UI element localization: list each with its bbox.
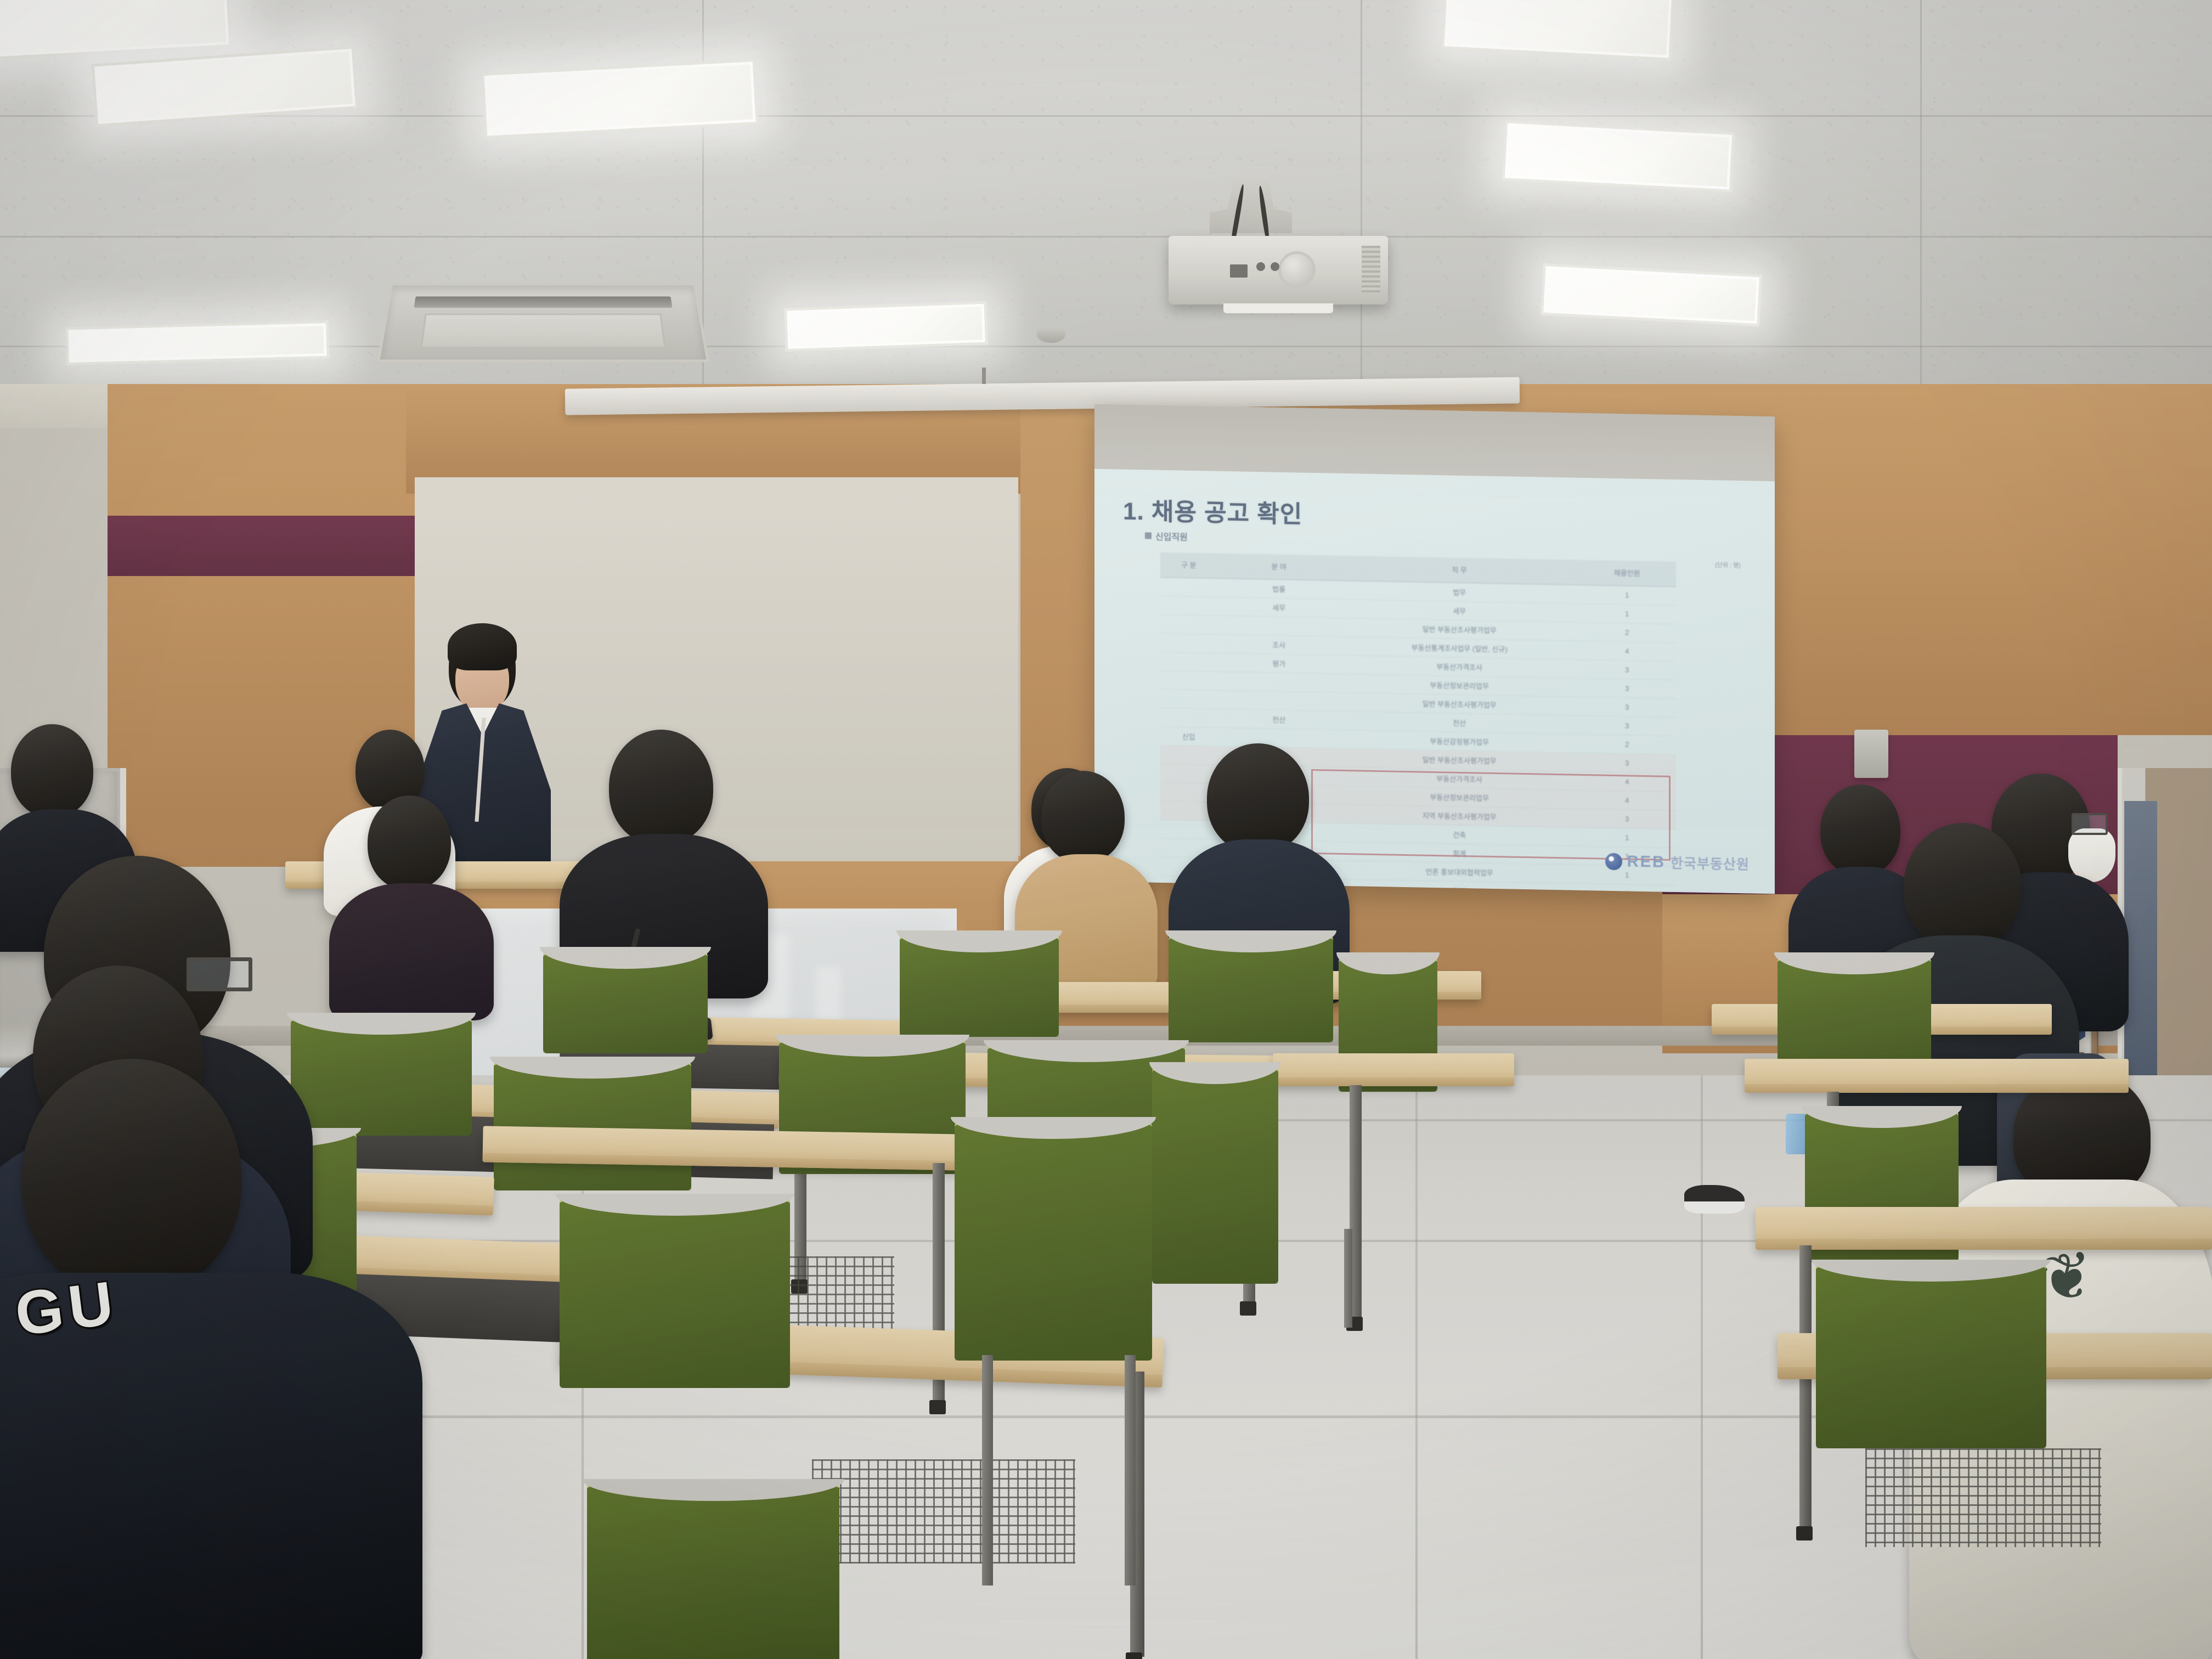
head	[11, 724, 93, 817]
ceiling-light-panel	[1502, 120, 1735, 193]
table-cell: 3	[1578, 809, 1676, 829]
desk-leg-foot	[1240, 1301, 1256, 1316]
table-cell: 조사	[1217, 634, 1341, 655]
head	[1207, 743, 1309, 853]
door-window-pane	[2124, 801, 2157, 1108]
projector-vent	[1362, 246, 1380, 293]
table-column-header-2: 직 무	[1341, 556, 1578, 585]
table-cell	[1160, 708, 1217, 727]
chair[interactable]	[1169, 933, 1333, 1042]
head	[1904, 823, 2022, 949]
desk-wire-basket	[1865, 1448, 2101, 1547]
chair-back	[494, 1059, 691, 1190]
ceiling-ac-unit	[377, 283, 710, 362]
wall-speaker	[1854, 730, 1888, 778]
table-cell	[1160, 577, 1217, 597]
projector-lens	[1278, 251, 1316, 289]
table-cell: 3	[1578, 753, 1676, 773]
student-left-varsity-jacket: GU	[0, 1059, 406, 1659]
table-cell	[1160, 670, 1217, 690]
torso	[329, 883, 494, 1020]
student-center-tan-vest	[1009, 771, 1163, 957]
table-cell: 3	[1578, 659, 1676, 680]
floor-grout-line	[1415, 1075, 1418, 1659]
table-cell: 법률	[1217, 578, 1341, 599]
table-cell	[1160, 633, 1217, 653]
classroom-photo: 1. 채용 공고 확인 신입직원 (단위 : 명) 구 분분 야직 무채용인원 …	[0, 0, 2212, 1659]
ceiling	[0, 0, 2212, 417]
slide-title: 1. 채용 공고 확인	[1123, 492, 1302, 530]
chair[interactable]	[587, 1481, 839, 1659]
table-cell	[1160, 689, 1217, 709]
shoe	[1684, 1185, 1745, 1214]
ceiling-tile-seam	[1361, 0, 1362, 384]
ceiling-tile-seam	[0, 236, 2212, 238]
floor-grout-line	[1701, 1075, 1703, 1659]
ac-grill	[414, 296, 673, 308]
bullet-square-icon	[1145, 532, 1152, 539]
logo-abbr: REB	[1627, 853, 1666, 871]
projector-port	[1271, 262, 1279, 271]
ceiling-light-panel	[65, 320, 330, 366]
head	[22, 1059, 241, 1295]
desk-edge	[1273, 1077, 1514, 1086]
table-cell: 1	[1578, 827, 1676, 848]
table-cell: 4	[1578, 641, 1676, 661]
table-cell: 전산	[1217, 709, 1341, 730]
table-column-header-3: 채용인원	[1578, 560, 1676, 587]
table-cell: 4	[1578, 790, 1676, 810]
chair-back	[1152, 1064, 1278, 1284]
jacket-lettering: GU	[12, 1267, 122, 1350]
wall-maroon-stripe	[108, 516, 415, 576]
reb-aperture-icon	[1605, 853, 1622, 870]
chair[interactable]	[560, 1196, 790, 1388]
table-column-header-1: 분 야	[1217, 554, 1341, 581]
desk	[1745, 1059, 2129, 1093]
table-cell: 1	[1578, 603, 1676, 624]
chair[interactable]	[955, 1119, 1152, 1361]
head	[368, 795, 451, 890]
screen-blank-area	[1094, 404, 1775, 482]
ceiling-light-panel	[784, 301, 989, 352]
projector-port	[1230, 264, 1248, 278]
table-cell	[1160, 596, 1217, 616]
desk-wire-basket	[812, 1459, 1075, 1564]
chair[interactable]	[543, 949, 708, 1053]
table-cell: 1	[1578, 585, 1676, 605]
desk-leg	[1799, 1245, 1812, 1531]
chair-leg	[982, 1355, 993, 1585]
table-column-header-0: 구 분	[1160, 552, 1217, 578]
chair[interactable]	[1816, 1262, 2046, 1448]
table-cell	[1160, 614, 1217, 634]
desk-leg-foot	[1796, 1526, 1813, 1541]
student-front-left-dark	[329, 795, 494, 982]
table-cell: 3	[1578, 715, 1676, 736]
table-cell: 3	[1578, 678, 1676, 698]
table-cell: 4	[1578, 771, 1676, 792]
desk-edge	[1756, 1239, 2212, 1250]
logo-name: 한국부동산원	[1671, 853, 1750, 874]
projector	[1169, 236, 1388, 304]
chair-back	[955, 1119, 1152, 1361]
ac-panel	[421, 314, 665, 348]
slide-subtitle: 신입직원	[1145, 529, 1188, 543]
slide-subtitle-text: 신입직원	[1155, 529, 1188, 543]
chair-back	[587, 1481, 839, 1659]
smoke-detector-icon	[1037, 326, 1065, 343]
chair-leg	[1344, 1229, 1352, 1328]
head	[1041, 771, 1125, 863]
table-cell: 세무	[1217, 597, 1341, 618]
student-center-hoodie	[1169, 743, 1350, 963]
chair-back	[560, 1196, 790, 1388]
slide-unit-note: (단위 : 명)	[1715, 560, 1741, 569]
table-cell: 2	[1578, 734, 1676, 754]
table-cell	[1160, 652, 1217, 672]
table-cell	[1217, 616, 1341, 636]
chair[interactable]	[1778, 955, 1931, 1070]
desk-leg-foot	[1126, 1652, 1142, 1659]
table-cell	[1217, 690, 1341, 711]
table-cell	[1217, 672, 1341, 692]
chair-leg	[1125, 1355, 1136, 1585]
chair[interactable]	[494, 1059, 691, 1190]
desk	[1756, 1207, 2212, 1250]
table-cell: 2	[1578, 622, 1676, 642]
desk	[1273, 1053, 1514, 1086]
head	[609, 730, 713, 845]
projection-screen-pull-rod[interactable]	[982, 368, 986, 384]
projector-foot	[1223, 303, 1333, 313]
chair[interactable]	[1152, 1064, 1278, 1284]
presenter-hair	[448, 623, 517, 670]
table-cell: 3	[1578, 697, 1676, 717]
ceiling-tile-seam	[0, 346, 2212, 347]
ceiling-tile-seam	[1920, 0, 1922, 384]
student-mid-black	[560, 730, 768, 960]
chair-back	[1816, 1262, 2046, 1448]
table-cell: 평가	[1217, 653, 1341, 674]
desk-edge	[1745, 1084, 2129, 1093]
slide-logo: REB 한국부동산원	[1605, 851, 1750, 874]
chair[interactable]	[900, 933, 1059, 1037]
projector-port	[1256, 262, 1265, 271]
desk-leg-foot	[929, 1400, 946, 1414]
ceiling-tile-seam	[0, 115, 2212, 117]
